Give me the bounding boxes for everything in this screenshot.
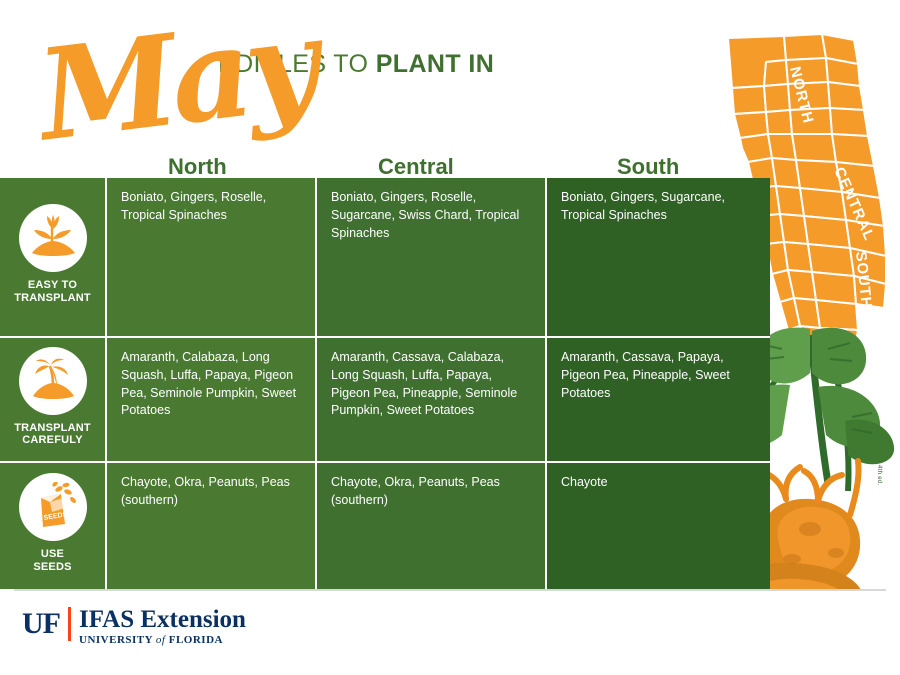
table-row: EASY TOTRANSPLANT Boniato, Gingers, Rose… (0, 178, 770, 336)
palm-plant-icon (19, 347, 87, 415)
category-label-line2: CAREFULY (22, 434, 82, 446)
category-label-line2: TRANSPLANT (14, 292, 91, 304)
column-header-central: Central (378, 154, 454, 180)
seed-packet-icon: SEEDS (19, 473, 87, 541)
footer-divider (14, 589, 886, 591)
month-heading: May (32, 2, 319, 159)
header: EDIBLES TO PLANT IN May (0, 0, 900, 178)
university-post: FLORIDA (165, 634, 222, 646)
category-label: USESEEDS (33, 548, 71, 573)
university-of-florida-text: UNIVERSITY of FLORIDA (79, 634, 246, 646)
uf-divider-bar (68, 607, 71, 641)
category-label-line2: SEEDS (33, 561, 71, 573)
category-label: TRANSPLANTCAREFULY (14, 422, 91, 447)
title-bold: PLANT IN (376, 50, 494, 78)
ifas-extension-text: IFAS Extension (79, 606, 246, 633)
cell-south-easy-to-transplant: Boniato, Gingers, Sugarcane, Tropical Sp… (545, 178, 770, 336)
uf-ifas-extension-logo: UF IFAS Extension UNIVERSITY of FLORIDA (22, 607, 246, 646)
category-label: EASY TOTRANSPLANT (14, 279, 91, 304)
seedling-icon (19, 204, 87, 272)
category-cell-use-seeds: SEEDS USESEEDS (0, 461, 105, 589)
column-header-north: North (168, 154, 227, 180)
category-label-line1: USE (41, 548, 64, 560)
category-label-line1: TRANSPLANT (14, 422, 91, 434)
cell-central-transplant-carefully: Amaranth, Cassava, Calabaza, Long Squash… (315, 336, 545, 461)
cell-south-transplant-carefully: Amaranth, Cassava, Papaya, Pigeon Pea, P… (545, 336, 770, 461)
category-label-line1: EASY TO (28, 279, 77, 291)
cell-north-easy-to-transplant: Boniato, Gingers, Roselle, Tropical Spin… (105, 178, 315, 336)
cell-south-use-seeds: Chayote (545, 461, 770, 589)
uf-text-block: IFAS Extension UNIVERSITY of FLORIDA (79, 607, 246, 646)
table-row: TRANSPLANTCAREFULY Amaranth, Calabaza, L… (0, 336, 770, 461)
cell-north-transplant-carefully: Amaranth, Calabaza, Long Squash, Luffa, … (105, 336, 315, 461)
footer: UF IFAS Extension UNIVERSITY of FLORIDA (0, 589, 900, 675)
planting-table: EASY TOTRANSPLANT Boniato, Gingers, Rose… (0, 178, 770, 589)
cell-central-easy-to-transplant: Boniato, Gingers, Roselle, Sugarcane, Sw… (315, 178, 545, 336)
category-cell-easy-to-transplant: EASY TOTRANSPLANT (0, 178, 105, 336)
column-header-south: South (617, 154, 679, 180)
cell-north-use-seeds: Chayote, Okra, Peanuts, Peas (southern) (105, 461, 315, 589)
cell-central-use-seeds: Chayote, Okra, Peanuts, Peas (southern) (315, 461, 545, 589)
uf-wordmark: UF (22, 607, 60, 641)
category-cell-transplant-carefully: TRANSPLANTCAREFULY (0, 336, 105, 461)
university-pre: UNIVERSITY (79, 634, 156, 646)
edition-mark: 4th ed. (876, 465, 882, 485)
table-row: SEEDS USESEEDS Chayote, Okra, Peanuts, P… (0, 461, 770, 589)
